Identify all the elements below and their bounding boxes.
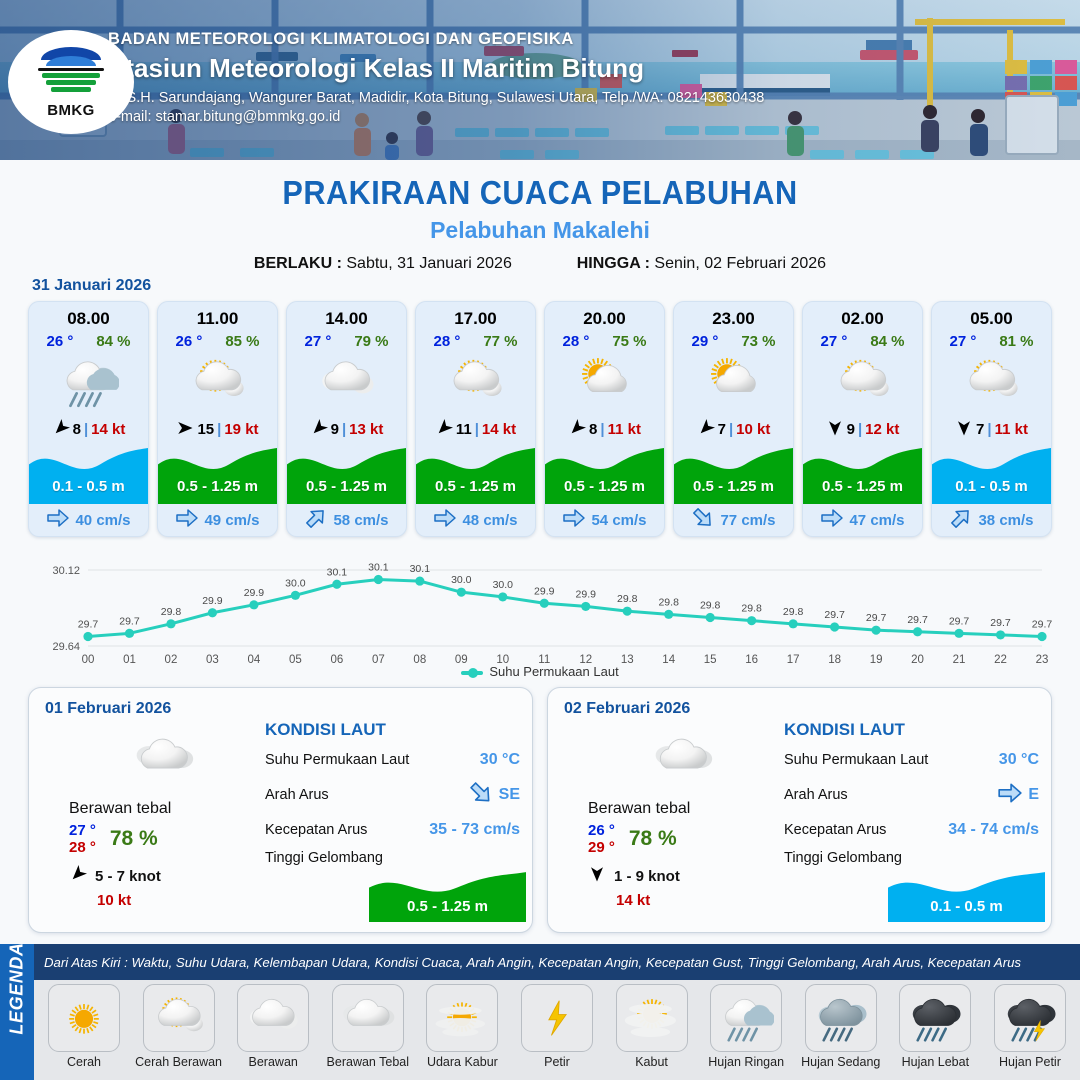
daily-date: 01 Februari 2026 [45, 700, 516, 718]
daily-forecast-panel: 01 Februari 2026 Berawan tebal 27 ° 28 °… [28, 687, 533, 933]
weather-cerah-berawan-tipis-icon [674, 350, 793, 414]
daily-current-direction: E [1028, 786, 1039, 804]
valid-until-label: HINGGA : [577, 255, 650, 272]
port-name: Pelabuhan Makalehi [0, 217, 1080, 244]
weather-kabut-icon [616, 984, 688, 1052]
wind-speed: 8 [73, 421, 81, 438]
svg-text:29.7: 29.7 [824, 609, 845, 621]
wind-gust-separator: | [475, 421, 479, 438]
daily-temp-max: 29 ° [588, 839, 615, 856]
daily-temp-min: 27 ° [69, 822, 96, 839]
svg-text:30.0: 30.0 [285, 577, 306, 589]
wave-height: 0.5 - 1.25 m [287, 478, 406, 495]
wind-gust: 12 kt [865, 421, 899, 438]
wind-gust-separator: | [987, 421, 991, 438]
svg-text:29.9: 29.9 [576, 588, 597, 600]
daily-row: Suhu Permukaan Laut30 °C [265, 751, 520, 769]
wave-height: 0.5 - 1.25 m [158, 478, 277, 495]
card-wind: 15 | 19 kt [158, 414, 277, 444]
forecast-card: 05.00 27 ° 81 % 7 | 11 kt [931, 301, 1052, 537]
wave-height: 0.5 - 1.25 m [674, 478, 793, 495]
card-time: 02.00 [803, 302, 922, 329]
current-direction-arrow-icon [46, 506, 70, 535]
svg-text:29.8: 29.8 [741, 603, 762, 615]
wind-gust-separator: | [600, 421, 604, 438]
legend-item-label: Berawan Tebal [324, 1055, 412, 1069]
daily-row-value: 35 - 73 cm/s [429, 821, 520, 839]
daily-wind-gust: 10 kt [97, 892, 259, 909]
svg-text:29.8: 29.8 [783, 606, 804, 618]
card-humidity: 73 % [741, 333, 775, 350]
svg-text:29.7: 29.7 [949, 615, 970, 627]
wind-direction-arrow-icon [310, 419, 328, 440]
svg-text:29.7: 29.7 [1032, 619, 1052, 631]
legend-item: Berawan Tebal [324, 984, 412, 1078]
card-current: 54 cm/s [545, 504, 664, 536]
wind-speed: 9 [331, 421, 339, 438]
card-temp-humidity: 28 ° 75 % [545, 329, 664, 350]
valid-until-value: Senin, 02 Februari 2026 [654, 255, 826, 272]
daily-wind: 5 - 7 knot [69, 865, 259, 887]
daily-temps: 27 ° 28 ° 78 % [69, 822, 259, 856]
chart-legend-label: Suhu Permukaan Laut [489, 664, 618, 679]
legend-item: Udara Kabur [418, 984, 506, 1078]
legend-caption: Dari Atas Kiri : Waktu, Suhu Udara, Kele… [34, 944, 1080, 980]
forecast-card: 17.00 28 ° 77 % 11 | 14 kt [415, 301, 536, 537]
wave-height: 0.1 - 0.5 m [29, 478, 148, 495]
daily-left-block: Berawan tebal 26 ° 29 ° 78 % 1 - 9 knot … [588, 732, 778, 909]
weather-cerah-berawan-tipis-icon [545, 350, 664, 414]
legend-item: Cerah Berawan [135, 984, 223, 1078]
legend-item: Petir [513, 984, 601, 1078]
daily-row-value: 30 °C [999, 751, 1039, 769]
current-direction-arrow-icon [175, 506, 199, 535]
daily-row-label: Kecepatan Arus [265, 822, 367, 838]
station-address: Jl. S.H. Sarundajang, Wangurer Barat, Ma… [108, 90, 764, 106]
card-current: 38 cm/s [932, 504, 1051, 536]
wind-gust: 10 kt [736, 421, 770, 438]
daily-row-label: Kecepatan Arus [784, 822, 886, 838]
forecast-card: 08.00 26 ° 84 % 8 [28, 301, 149, 537]
card-wave: 0.5 - 1.25 m [416, 444, 535, 504]
svg-text:29.7: 29.7 [907, 614, 928, 626]
card-temperature: 28 ° [562, 333, 589, 350]
daily-forecast-panel: 02 Februari 2026 Berawan tebal 26 ° 29 °… [547, 687, 1052, 933]
wind-direction-arrow-icon [435, 419, 453, 440]
daily-row-label: Arah Arus [784, 787, 848, 803]
daily-condition: Berawan tebal [69, 800, 259, 818]
sea-conditions-title: KONDISI LAUT [784, 720, 1039, 740]
card-wind: 7 | 11 kt [932, 414, 1051, 444]
daily-row-label: Tinggi Gelombang [265, 850, 383, 866]
wind-direction-arrow-icon [588, 865, 606, 887]
card-time: 20.00 [545, 302, 664, 329]
card-temperature: 27 ° [949, 333, 976, 350]
card-wind: 9 | 12 kt [803, 414, 922, 444]
card-wind: 8 | 11 kt [545, 414, 664, 444]
card-temp-humidity: 26 ° 84 % [29, 329, 148, 350]
daily-row-label: Arah Arus [265, 787, 329, 803]
wave-height: 0.5 - 1.25 m [803, 478, 922, 495]
wind-direction-arrow-icon [697, 419, 715, 440]
daily-left-block: Berawan tebal 27 ° 28 ° 78 % 5 - 7 knot … [69, 732, 259, 909]
card-current: 47 cm/s [803, 504, 922, 536]
card-wave: 0.5 - 1.25 m [674, 444, 793, 504]
card-humidity: 75 % [612, 333, 646, 350]
svg-text:29.8: 29.8 [161, 606, 182, 618]
card-temperature: 27 ° [304, 333, 331, 350]
svg-text:29.9: 29.9 [244, 587, 265, 599]
card-current: 77 cm/s [674, 504, 793, 536]
legend-item-label: Hujan Ringan [702, 1055, 790, 1069]
wind-gust: 14 kt [91, 421, 125, 438]
legend-side-bar: LEGENDA [0, 944, 34, 1080]
wind-direction-arrow-icon [826, 419, 844, 440]
legend-item: Berawan [229, 984, 317, 1078]
svg-text:29.8: 29.8 [658, 596, 679, 608]
card-current: 40 cm/s [29, 504, 148, 536]
card-humidity: 84 % [870, 333, 904, 350]
svg-text:29.8: 29.8 [617, 593, 638, 605]
wind-gust-separator: | [342, 421, 346, 438]
svg-text:29.8: 29.8 [700, 600, 721, 612]
wind-gust: 19 kt [224, 421, 258, 438]
forecast-card: 11.00 26 ° 85 % 15 | 19 kt [157, 301, 278, 537]
chart-legend-swatch [461, 671, 483, 675]
current-direction-arrow-icon [820, 506, 844, 535]
wind-direction-arrow-icon [69, 865, 87, 887]
card-temperature: 26 ° [175, 333, 202, 350]
legend-item-label: Cerah Berawan [135, 1055, 223, 1069]
daily-wind-speed: 5 - 7 knot [95, 868, 161, 885]
wind-gust: 11 kt [995, 421, 1028, 438]
legend-item: Cerah [40, 984, 128, 1078]
card-temp-humidity: 27 ° 81 % [932, 329, 1051, 350]
wind-gust-separator: | [217, 421, 221, 438]
sea-conditions-title: KONDISI LAUT [265, 720, 520, 740]
daily-wind-speed: 1 - 9 knot [614, 868, 680, 885]
card-wave: 0.1 - 0.5 m [932, 444, 1051, 504]
wind-direction-arrow-icon [52, 419, 70, 440]
legend-icon-list: Cerah Cerah Berawan [40, 984, 1074, 1078]
legend-item: Hujan Ringan [702, 984, 790, 1078]
card-wave: 0.5 - 1.25 m [545, 444, 664, 504]
wind-speed: 9 [847, 421, 855, 438]
weather-berawan-icon [237, 984, 309, 1052]
current-speed: 40 cm/s [75, 512, 130, 529]
legend-item-label: Udara Kabur [418, 1055, 506, 1069]
svg-text:29.7: 29.7 [119, 615, 140, 627]
card-temp-humidity: 26 ° 85 % [158, 329, 277, 350]
weather-hujan-ringan-icon [29, 350, 148, 414]
card-time: 23.00 [674, 302, 793, 329]
daily-forecast-panels: 01 Februari 2026 Berawan tebal 27 ° 28 °… [28, 687, 1052, 933]
card-temp-humidity: 29 ° 73 % [674, 329, 793, 350]
weather-hujan-petir-icon [994, 984, 1066, 1052]
daily-row: Suhu Permukaan Laut30 °C [784, 751, 1039, 769]
weather-berawan-tebal-icon [588, 732, 778, 788]
legend-item-label: Petir [513, 1055, 601, 1069]
bmkg-logo: BMKG [8, 30, 134, 134]
page-title-block: PRAKIRAAN CUACA PELABUHAN Pelabuhan Maka… [0, 160, 1080, 273]
page-header: BMKG BADAN METEOROLOGI KLIMATOLOGI DAN G… [0, 0, 1080, 160]
weather-udara-kabur-icon [426, 984, 498, 1052]
weather-berawan-icon [287, 350, 406, 414]
daily-sea-conditions: KONDISI LAUT Suhu Permukaan Laut30 °C Ar… [784, 720, 1039, 866]
wind-speed: 11 [456, 421, 472, 438]
daily-condition: Berawan tebal [588, 800, 778, 818]
weather-hujan-ringan-icon [710, 984, 782, 1052]
card-time: 14.00 [287, 302, 406, 329]
card-wind: 9 | 13 kt [287, 414, 406, 444]
bmkg-logo-text: BMKG [47, 102, 94, 119]
forecast-card: 20.00 28 ° 75 % 8 | 11 kt 0.5 - 1.25 m [544, 301, 665, 537]
daily-wave-height: 0.5 - 1.25 m [369, 898, 526, 915]
svg-text:29.7: 29.7 [78, 619, 99, 631]
weather-cerah-berawan-icon [932, 350, 1051, 414]
hourly-forecast-cards: 08.00 26 ° 84 % 8 [28, 301, 1052, 537]
weather-hujan-lebat-icon [899, 984, 971, 1052]
current-speed: 58 cm/s [333, 512, 388, 529]
weather-cerah-berawan-icon [143, 984, 215, 1052]
legend-strip: LEGENDA Dari Atas Kiri : Waktu, Suhu Uda… [0, 944, 1080, 1080]
daily-wave-block: 0.1 - 0.5 m [888, 870, 1045, 922]
valid-from-label: BERLAKU : [254, 255, 342, 272]
card-temp-humidity: 27 ° 79 % [287, 329, 406, 350]
legend-item-label: Cerah [40, 1055, 128, 1069]
daily-row-label: Suhu Permukaan Laut [265, 752, 409, 768]
daily-date: 02 Februari 2026 [564, 700, 1035, 718]
current-speed: 38 cm/s [978, 512, 1033, 529]
card-humidity: 81 % [999, 333, 1033, 350]
valid-from-value: Sabtu, 31 Januari 2026 [346, 255, 511, 272]
svg-text:30.12: 30.12 [52, 565, 80, 577]
legend-item-label: Berawan [229, 1055, 317, 1069]
wind-speed: 15 [197, 421, 214, 438]
weather-berawan-tebal-icon [332, 984, 404, 1052]
card-current: 48 cm/s [416, 504, 535, 536]
wind-direction-arrow-icon [955, 419, 973, 440]
svg-text:29.7: 29.7 [990, 617, 1011, 629]
card-current: 49 cm/s [158, 504, 277, 536]
daily-humidity: 78 % [110, 827, 158, 851]
daily-row: Tinggi Gelombang [784, 850, 1039, 866]
weather-cerah-icon [48, 984, 120, 1052]
sst-chart: 30.1229.6429.70029.70129.80229.90329.904… [28, 556, 1052, 678]
legend-item: Hujan Petir [986, 984, 1074, 1078]
current-direction-arrow-icon [562, 506, 586, 535]
wind-gust-separator: | [858, 421, 862, 438]
page-title: PRAKIRAAN CUACA PELABUHAN [38, 174, 1042, 212]
daily-wave-block: 0.5 - 1.25 m [369, 870, 526, 922]
current-speed: 54 cm/s [591, 512, 646, 529]
svg-text:29.9: 29.9 [534, 585, 555, 597]
card-temperature: 28 ° [433, 333, 460, 350]
wind-gust-separator: | [84, 421, 88, 438]
current-speed: 49 cm/s [204, 512, 259, 529]
daily-row: Kecepatan Arus34 - 74 cm/s [784, 821, 1039, 839]
agency-name: BADAN METEOROLOGI KLIMATOLOGI DAN GEOFIS… [108, 30, 764, 49]
station-name: Stasiun Meteorologi Kelas II Maritim Bit… [108, 53, 764, 84]
forecast-card: 14.00 27 ° 79 % 9 | 13 kt 0 [286, 301, 407, 537]
svg-text:29.7: 29.7 [866, 612, 887, 624]
legend-side-label: LEGENDA [7, 938, 28, 1040]
bmkg-logo-glyph [32, 45, 110, 101]
weather-cerah-berawan-icon [416, 350, 535, 414]
card-temp-humidity: 27 ° 84 % [803, 329, 922, 350]
svg-text:30.1: 30.1 [410, 563, 431, 575]
current-speed: 47 cm/s [849, 512, 904, 529]
card-humidity: 79 % [354, 333, 388, 350]
daily-row: Kecepatan Arus35 - 73 cm/s [265, 821, 520, 839]
wind-speed: 8 [589, 421, 597, 438]
legend-item-label: Hujan Petir [986, 1055, 1074, 1069]
current-direction-arrow-icon [997, 780, 1023, 810]
card-wind: 11 | 14 kt [416, 414, 535, 444]
svg-text:29.9: 29.9 [202, 595, 223, 607]
card-time: 08.00 [29, 302, 148, 329]
wind-gust-separator: | [729, 421, 733, 438]
wave-height: 0.1 - 0.5 m [932, 478, 1051, 495]
card-humidity: 85 % [225, 333, 259, 350]
card-temperature: 27 ° [820, 333, 847, 350]
forecast-date-badge: 31 Januari 2026 [32, 277, 151, 295]
current-direction-arrow-icon [433, 506, 457, 535]
current-direction-arrow-icon [304, 506, 328, 535]
card-wave: 0.5 - 1.25 m [287, 444, 406, 504]
chart-legend: Suhu Permukaan Laut [0, 664, 1080, 679]
daily-current-direction: SE [499, 786, 520, 804]
weather-petir-icon [521, 984, 593, 1052]
card-time: 05.00 [932, 302, 1051, 329]
wind-speed: 7 [718, 421, 726, 438]
wind-gust: 13 kt [349, 421, 383, 438]
daily-wave-height: 0.1 - 0.5 m [888, 898, 1045, 915]
weather-hujan-sedang-icon [805, 984, 877, 1052]
forecast-card: 02.00 27 ° 84 % 9 | 12 kt [802, 301, 923, 537]
wind-direction-arrow-icon [176, 419, 194, 440]
wind-gust: 11 kt [608, 421, 641, 438]
card-wind: 8 | 14 kt [29, 414, 148, 444]
daily-row: Arah Arus E [784, 780, 1039, 810]
daily-humidity: 78 % [629, 827, 677, 851]
weather-cerah-berawan-icon [158, 350, 277, 414]
daily-row-label: Suhu Permukaan Laut [784, 752, 928, 768]
weather-berawan-tebal-icon [69, 732, 259, 788]
legend-item-label: Hujan Sedang [797, 1055, 885, 1069]
wind-gust: 14 kt [482, 421, 516, 438]
wave-height: 0.5 - 1.25 m [545, 478, 664, 495]
legend-item-label: Hujan Lebat [891, 1055, 979, 1069]
svg-text:29.64: 29.64 [52, 641, 80, 653]
current-speed: 77 cm/s [720, 512, 775, 529]
daily-temp-max: 28 ° [69, 839, 96, 856]
daily-row-value: 34 - 74 cm/s [948, 821, 1039, 839]
legend-item: Kabut [608, 984, 696, 1078]
card-temperature: 29 ° [691, 333, 718, 350]
card-time: 17.00 [416, 302, 535, 329]
card-temperature: 26 ° [46, 333, 73, 350]
daily-temps: 26 ° 29 ° 78 % [588, 822, 778, 856]
card-wave: 0.1 - 0.5 m [29, 444, 148, 504]
card-current: 58 cm/s [287, 504, 406, 536]
daily-wind: 1 - 9 knot [588, 865, 778, 887]
daily-row-value: 30 °C [480, 751, 520, 769]
card-wind: 7 | 10 kt [674, 414, 793, 444]
current-speed: 48 cm/s [462, 512, 517, 529]
weather-cerah-berawan-icon [803, 350, 922, 414]
daily-temp-min: 26 ° [588, 822, 615, 839]
wave-height: 0.5 - 1.25 m [416, 478, 535, 495]
current-direction-arrow-icon [468, 780, 494, 810]
svg-text:30.1: 30.1 [327, 566, 348, 578]
card-humidity: 77 % [483, 333, 517, 350]
current-direction-arrow-icon [691, 506, 715, 535]
card-wave: 0.5 - 1.25 m [803, 444, 922, 504]
daily-row: Tinggi Gelombang [265, 850, 520, 866]
daily-sea-conditions: KONDISI LAUT Suhu Permukaan Laut30 °C Ar… [265, 720, 520, 866]
wind-speed: 7 [976, 421, 984, 438]
sst-chart-canvas: 30.1229.6429.70029.70129.80229.90329.904… [28, 556, 1052, 678]
legend-item-label: Kabut [608, 1055, 696, 1069]
svg-text:30.0: 30.0 [451, 574, 472, 586]
validity-row: BERLAKU : Sabtu, 31 Januari 2026 HINGGA … [0, 255, 1080, 273]
card-wave: 0.5 - 1.25 m [158, 444, 277, 504]
card-time: 11.00 [158, 302, 277, 329]
forecast-card: 23.00 29 ° 73 % 7 | 10 kt 0.5 - 1.25 m [673, 301, 794, 537]
daily-row: Arah Arus SE [265, 780, 520, 810]
wind-direction-arrow-icon [568, 419, 586, 440]
current-direction-arrow-icon [949, 506, 973, 535]
card-humidity: 84 % [96, 333, 130, 350]
svg-text:30.1: 30.1 [368, 562, 389, 574]
header-text-block: BADAN METEOROLOGI KLIMATOLOGI DAN GEOFIS… [108, 30, 764, 125]
legend-item: Hujan Lebat [891, 984, 979, 1078]
legend-item: Hujan Sedang [797, 984, 885, 1078]
daily-row-label: Tinggi Gelombang [784, 850, 902, 866]
station-email: e-mail: stamar.bitung@bmmkg.go.id [108, 109, 764, 125]
card-temp-humidity: 28 ° 77 % [416, 329, 535, 350]
daily-wind-gust: 14 kt [616, 892, 778, 909]
svg-text:30.0: 30.0 [493, 579, 514, 591]
